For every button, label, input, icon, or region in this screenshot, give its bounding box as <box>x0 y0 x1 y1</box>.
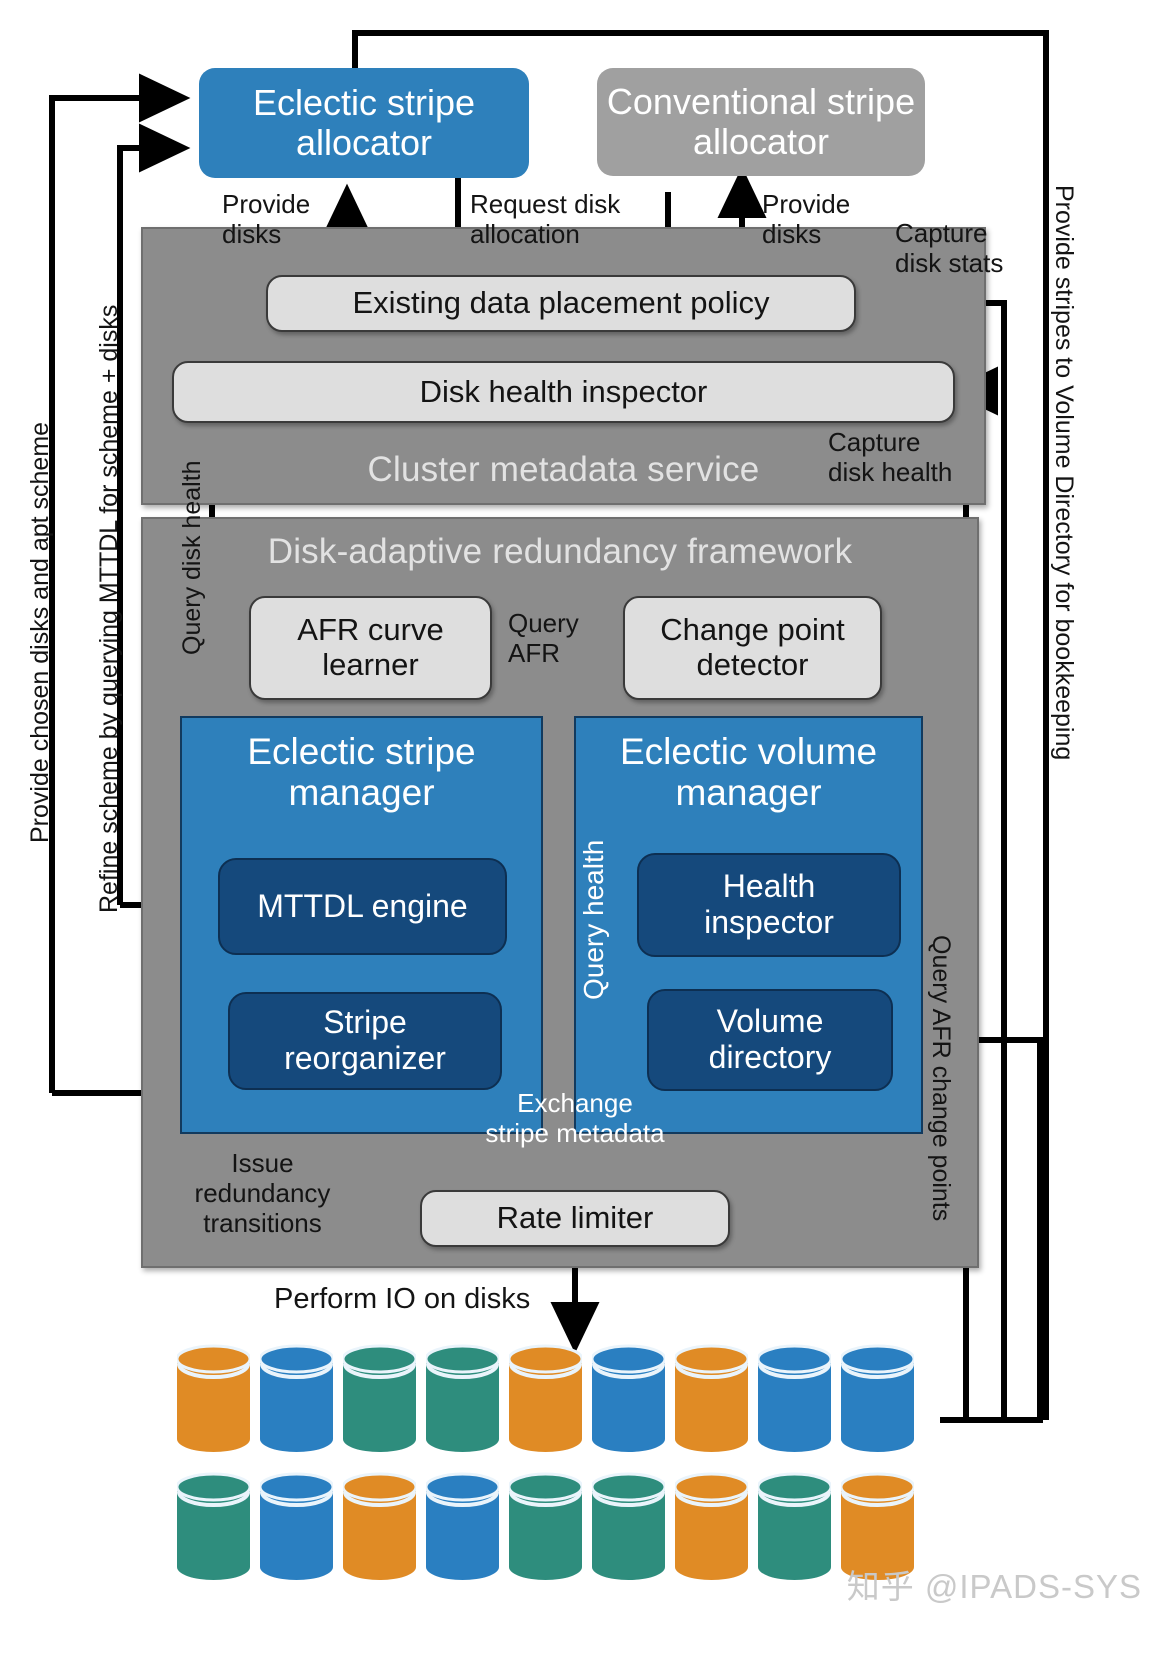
disk-cylinder <box>758 1472 831 1593</box>
node-stripe-reorganizer[interactable]: Stripe reorganizer <box>228 992 502 1090</box>
node-disk-health-inspector-label: Disk health inspector <box>420 375 708 410</box>
label-capture-disk-stats: Capture disk stats <box>895 218 1003 278</box>
node-rate-limiter[interactable]: Rate limiter <box>420 1190 730 1247</box>
disk-cylinder <box>841 1344 914 1465</box>
disk-cylinder <box>426 1344 499 1465</box>
label-refine-scheme: Refine scheme by querying MTTDL for sche… <box>95 305 124 913</box>
label-query-afr: Query AFR <box>508 608 579 668</box>
node-stripe-reorganizer-label: Stripe reorganizer <box>284 1005 446 1077</box>
disk-cylinder <box>509 1344 582 1465</box>
label-request-disk-allocation: Request disk allocation <box>470 189 620 249</box>
node-health-inspector-label: Health inspector <box>704 869 834 941</box>
node-health-inspector[interactable]: Health inspector <box>637 853 901 957</box>
label-provide-chosen-disks: Provide chosen disks and apt scheme <box>26 422 55 843</box>
disk-cylinder <box>260 1344 333 1465</box>
disk-cylinder <box>675 1472 748 1593</box>
disk-cylinder <box>758 1344 831 1465</box>
disk-cylinder <box>675 1344 748 1465</box>
node-mttdl-engine-label: MTTDL engine <box>257 889 467 925</box>
node-conventional-stripe-allocator[interactable]: Conventional stripe allocator <box>597 68 925 176</box>
node-existing-data-placement-policy-label: Existing data placement policy <box>352 286 769 321</box>
node-mttdl-engine[interactable]: MTTDL engine <box>218 858 507 955</box>
label-capture-disk-health: Capture disk health <box>828 427 952 487</box>
label-provide-disks-right: Provide disks <box>762 189 850 249</box>
node-rate-limiter-label: Rate limiter <box>497 1201 654 1236</box>
disk-cylinder <box>343 1344 416 1465</box>
disk-cylinder <box>592 1344 665 1465</box>
label-exchange-stripe-metadata: Exchange stripe metadata <box>475 1088 675 1148</box>
node-afr-curve-learner-label: AFR curve learner <box>297 613 443 682</box>
label-perform-io-on-disks: Perform IO on disks <box>274 1283 530 1317</box>
label-issue-redundancy-transitions: Issue redundancy transitions <box>175 1148 350 1238</box>
node-volume-directory[interactable]: Volume directory <box>647 989 893 1091</box>
diagram-canvas: Eclectic stripe allocator Conventional s… <box>0 0 1164 1668</box>
panel-eclectic-stripe-manager-title: Eclectic stripe manager <box>180 732 543 813</box>
node-change-point-detector[interactable]: Change point detector <box>623 596 882 700</box>
disk-cylinder <box>426 1472 499 1593</box>
watermark: 知乎 @IPADS-SYS <box>847 1560 1142 1608</box>
label-provide-disks-left: Provide disks <box>222 189 310 249</box>
node-disk-health-inspector[interactable]: Disk health inspector <box>172 361 955 423</box>
disk-cylinder <box>592 1472 665 1593</box>
panel-dar-framework-title: Disk-adaptive redundancy framework <box>141 532 979 572</box>
disk-cylinder <box>177 1472 250 1593</box>
label-provide-stripes: Provide stripes to Volume Directory for … <box>1049 185 1078 760</box>
node-eclectic-stripe-allocator-label: Eclectic stripe allocator <box>253 83 475 164</box>
node-change-point-detector-label: Change point detector <box>660 613 844 682</box>
node-conventional-stripe-allocator-label: Conventional stripe allocator <box>607 82 915 163</box>
label-query-disk-health: Query disk health <box>178 460 207 655</box>
disk-cylinder <box>177 1344 250 1465</box>
node-existing-data-placement-policy[interactable]: Existing data placement policy <box>266 275 856 332</box>
label-query-afr-change-points: Query AFR change points <box>926 935 955 1221</box>
disk-cylinder <box>260 1472 333 1593</box>
node-volume-directory-label: Volume directory <box>709 1004 832 1076</box>
disk-cylinder <box>343 1472 416 1593</box>
node-afr-curve-learner[interactable]: AFR curve learner <box>249 596 492 700</box>
label-query-health: Query health <box>578 840 610 1000</box>
panel-eclectic-volume-manager-title: Eclectic volume manager <box>574 732 923 813</box>
node-eclectic-stripe-allocator[interactable]: Eclectic stripe allocator <box>199 68 529 178</box>
disk-cylinder <box>509 1472 582 1593</box>
